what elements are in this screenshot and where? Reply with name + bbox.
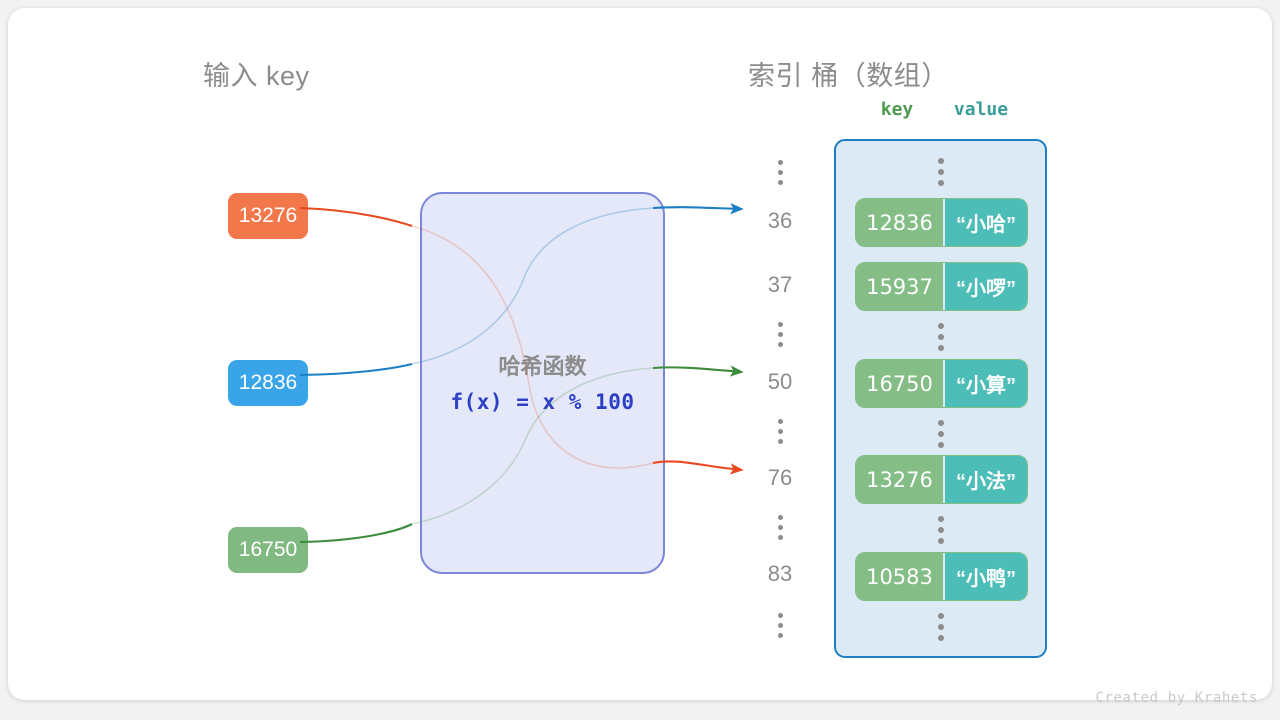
- entry-key: 10583: [856, 553, 943, 600]
- bucket-ellipsis: [836, 516, 1045, 544]
- index-label-50: 50: [760, 369, 800, 395]
- bucket-ellipsis: [836, 158, 1045, 186]
- index-label-37: 37: [760, 272, 800, 298]
- hash-function-title: 哈希函数: [422, 349, 663, 381]
- index-label-83: 83: [760, 561, 800, 587]
- index-label-36: 36: [760, 208, 800, 234]
- entry-value: “小啰”: [945, 263, 1027, 310]
- heading-bucket: 桶（数组）: [811, 54, 949, 93]
- bucket-array: 12836 “小哈” 15937 “小啰” 16750 “小算” 13276 “…: [834, 139, 1047, 658]
- index-ellipsis: [760, 160, 800, 185]
- bucket-ellipsis: [836, 613, 1045, 641]
- entry-value: “小法”: [945, 456, 1027, 503]
- credit-text: Created by Krahets: [1095, 690, 1258, 706]
- bucket-ellipsis: [836, 323, 1045, 351]
- heading-value-column: value: [954, 99, 1008, 120]
- entry-value: “小算”: [945, 360, 1027, 407]
- entry-key: 12836: [856, 199, 943, 246]
- index-ellipsis: [760, 322, 800, 347]
- hash-function-box: 哈希函数 f(x) = x % 100: [420, 192, 665, 574]
- input-key-chip-16750[interactable]: 16750: [228, 527, 308, 573]
- entry-value: “小哈”: [945, 199, 1027, 246]
- index-label-76: 76: [760, 465, 800, 491]
- bucket-entry-12836[interactable]: 12836 “小哈”: [855, 198, 1028, 247]
- heading-key-column: key: [881, 99, 914, 120]
- bucket-entry-13276[interactable]: 13276 “小法”: [855, 455, 1028, 504]
- diagram-canvas: 输入 key 索引 桶（数组） key value 哈希函数 f(x) = x …: [0, 0, 1280, 720]
- hash-function-formula: f(x) = x % 100: [422, 390, 663, 414]
- input-key-chip-13276[interactable]: 13276: [228, 193, 308, 239]
- input-key-label: 13276: [239, 204, 297, 228]
- index-ellipsis: [760, 515, 800, 540]
- index-ellipsis: [760, 613, 800, 638]
- input-key-chip-12836[interactable]: 12836: [228, 360, 308, 406]
- heading-index: 索引: [748, 54, 803, 93]
- bucket-entry-15937[interactable]: 15937 “小啰”: [855, 262, 1028, 311]
- bucket-ellipsis: [836, 420, 1045, 448]
- input-key-label: 16750: [239, 538, 297, 562]
- input-key-label: 12836: [239, 371, 297, 395]
- bucket-entry-10583[interactable]: 10583 “小鸭”: [855, 552, 1028, 601]
- bucket-entry-16750[interactable]: 16750 “小算”: [855, 359, 1028, 408]
- index-ellipsis: [760, 419, 800, 444]
- entry-key: 16750: [856, 360, 943, 407]
- heading-input-key: 输入 key: [203, 54, 310, 93]
- entry-value: “小鸭”: [945, 553, 1027, 600]
- entry-key: 13276: [856, 456, 943, 503]
- entry-key: 15937: [856, 263, 943, 310]
